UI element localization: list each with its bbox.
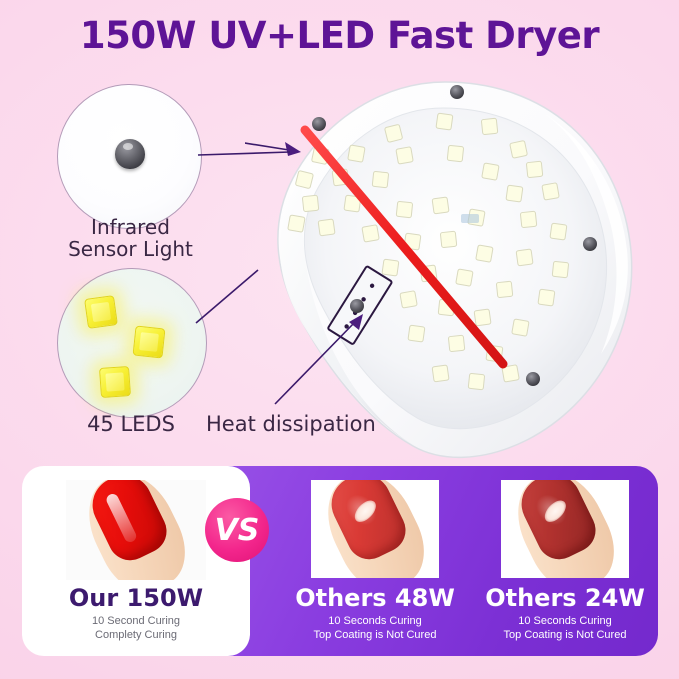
cell-title-others-24w: Others 24W xyxy=(474,584,656,612)
infographic-page: 150W UV+LED Fast Dryer xyxy=(0,0,679,679)
led-chip-icon xyxy=(84,295,118,329)
finger-illustration xyxy=(73,480,199,580)
vs-badge: VS xyxy=(205,498,269,562)
cell-sub-line2: Top Coating is Not Cured xyxy=(284,629,466,643)
cell-title-others-48w: Others 48W xyxy=(284,584,466,612)
finger-illustration xyxy=(502,480,628,578)
cell-subtitle-others-48w: 10 Seconds Curing Top Coating is Not Cur… xyxy=(284,615,466,643)
callout-leds xyxy=(57,268,207,418)
callout-label-heat-dissipation: Heat dissipation xyxy=(206,413,396,437)
vs-label: VS xyxy=(205,498,269,562)
cell-subtitle-ours: 10 Second Curing Complety Curing xyxy=(22,615,250,643)
nail-uncured xyxy=(322,480,413,567)
cell-subtitle-others-24w: 10 Seconds Curing Top Coating is Not Cur… xyxy=(474,615,656,643)
cell-sub-line2: Top Coating is Not Cured xyxy=(474,629,656,643)
lamp-svg xyxy=(245,74,645,464)
callout-label-line1: Infrared xyxy=(38,216,223,238)
callout-label-line2: Sensor Light xyxy=(38,238,223,260)
nail-photo-others-48w xyxy=(311,480,439,578)
nail-photo-others-24w xyxy=(501,480,629,578)
callout-infrared-sensor xyxy=(57,84,202,229)
finger-illustration xyxy=(312,480,438,578)
callout-label-leds: 45 LEDS xyxy=(46,413,216,437)
nail-uncured xyxy=(512,480,603,567)
led-chip-icon xyxy=(99,366,131,398)
cell-sub-line2: Complety Curing xyxy=(22,629,250,643)
page-title: 150W UV+LED Fast Dryer xyxy=(0,14,679,57)
cell-sub-line1: 10 Seconds Curing xyxy=(474,615,656,629)
cell-title-ours: Our 150W xyxy=(22,584,250,612)
uv-led-lamp-illustration xyxy=(245,74,645,464)
nail-cured xyxy=(83,480,174,568)
callout-label-infrared-sensor: Infrared Sensor Light xyxy=(38,216,223,261)
nail-photo-ours xyxy=(66,480,206,580)
cell-sub-line1: 10 Second Curing xyxy=(22,615,250,629)
led-chip-icon xyxy=(133,326,166,359)
comparison-panel: Our 150W 10 Second Curing Complety Curin… xyxy=(22,466,658,656)
lamp-logo-mark xyxy=(461,214,479,223)
cell-sub-line1: 10 Seconds Curing xyxy=(284,615,466,629)
comparison-cell-others-24w: Others 24W 10 Seconds Curing Top Coating… xyxy=(474,466,656,656)
sensor-dome-icon xyxy=(115,139,145,169)
comparison-cell-others-48w: Others 48W 10 Seconds Curing Top Coating… xyxy=(284,466,466,656)
